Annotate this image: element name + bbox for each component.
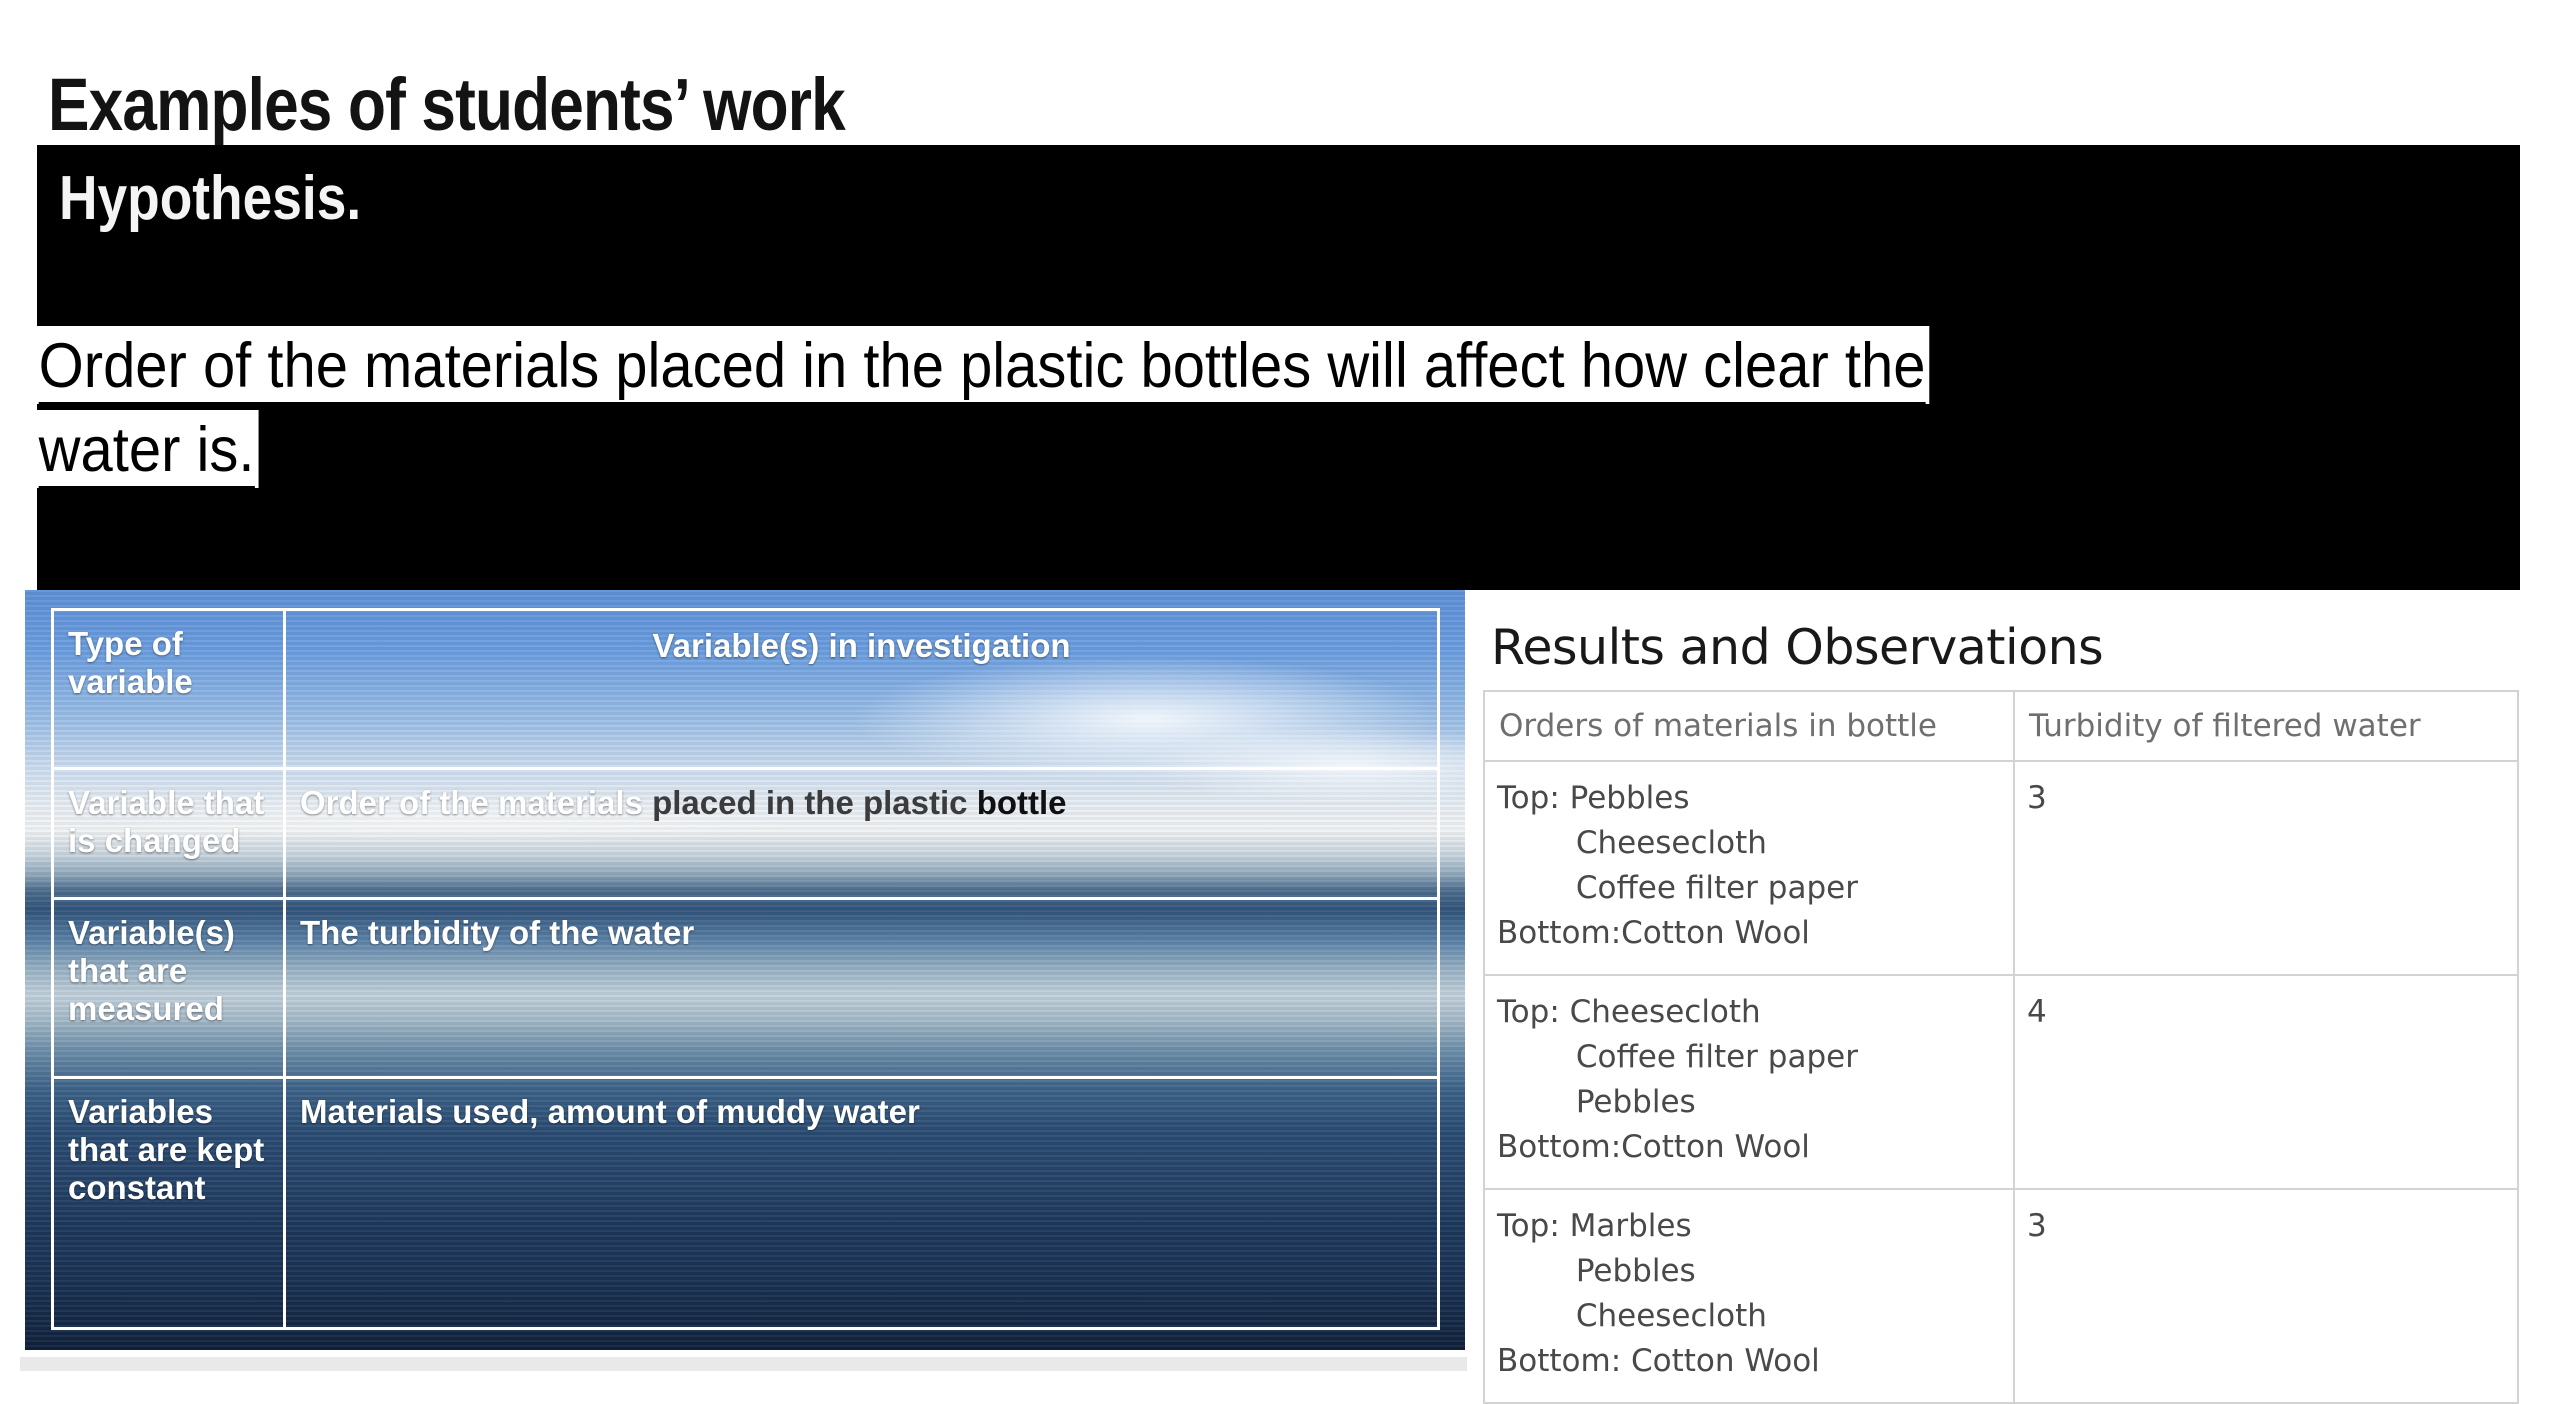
variable-measured-value: The turbidity of the water [285, 899, 1439, 1078]
variables-header-value: Variable(s) in investigation [285, 610, 1439, 769]
results-table: Orders of materials in bottle Turbidity … [1483, 690, 2519, 1404]
results-header-row: Orders of materials in bottle Turbidity … [1484, 691, 2518, 761]
table-row: Top: Pebbles Cheesecloth Coffee filter p… [1484, 761, 2518, 975]
bottom-divider [20, 1357, 1467, 1371]
hypothesis-line-2: water is. [35, 410, 258, 488]
variables-photo-slide: Type of variable Variable(s) in investig… [25, 590, 1465, 1350]
results-panel: Results and Observations Orders of mater… [1483, 620, 2523, 1404]
hypothesis-line-2-text: water is. [39, 415, 255, 490]
variable-changed-value: Order of the materials placed in the pla… [285, 768, 1439, 899]
results-turbidity-1: 3 [2014, 761, 2518, 975]
page-title: Examples of students’ work [48, 66, 845, 144]
results-turbidity-3: 3 [2014, 1189, 2518, 1403]
results-order-1: Top: Pebbles Cheesecloth Coffee filter p… [1484, 761, 2014, 975]
results-col-turbidity: Turbidity of filtered water [2014, 691, 2518, 761]
variable-changed-value-plain: Order of the materials [300, 784, 652, 821]
table-row: Top: Marbles Pebbles Cheesecloth Bottom:… [1484, 1189, 2518, 1403]
table-row: Top: Cheesecloth Coffee filter paper Peb… [1484, 975, 2518, 1189]
results-col-orders: Orders of materials in bottle [1484, 691, 2014, 761]
variable-changed-label: Variable that is changed [53, 768, 285, 899]
results-heading: Results and Observations [1491, 620, 2523, 676]
hypothesis-line-1: Order of the materials placed in the pla… [35, 326, 1929, 404]
results-turbidity-2: 4 [2014, 975, 2518, 1189]
variables-table: Type of variable Variable(s) in investig… [51, 608, 1440, 1330]
variable-changed-value-dark: placed in the plastic [652, 784, 977, 821]
hypothesis-panel: Hypothesis. Order of the materials place… [37, 145, 2520, 590]
variable-constant-value: Materials used, amount of muddy water [285, 1077, 1439, 1328]
results-order-2: Top: Cheesecloth Coffee filter paper Peb… [1484, 975, 2014, 1189]
hypothesis-heading: Hypothesis. [59, 167, 361, 231]
variable-measured-label: Variable(s) that are measured [53, 899, 285, 1078]
table-row: Variable that is changed Order of the ma… [53, 768, 1439, 899]
variable-changed-value-darker: bottle [977, 784, 1067, 821]
results-order-3: Top: Marbles Pebbles Cheesecloth Bottom:… [1484, 1189, 2014, 1403]
variable-constant-label: Variables that are kept constant [53, 1077, 285, 1328]
table-row: Type of variable Variable(s) in investig… [53, 610, 1439, 769]
table-row: Variables that are kept constant Materia… [53, 1077, 1439, 1328]
table-row: Variable(s) that are measured The turbid… [53, 899, 1439, 1078]
hypothesis-line-1-text: Order of the materials placed in the pla… [39, 331, 1926, 406]
variables-header-label: Type of variable [53, 610, 285, 769]
